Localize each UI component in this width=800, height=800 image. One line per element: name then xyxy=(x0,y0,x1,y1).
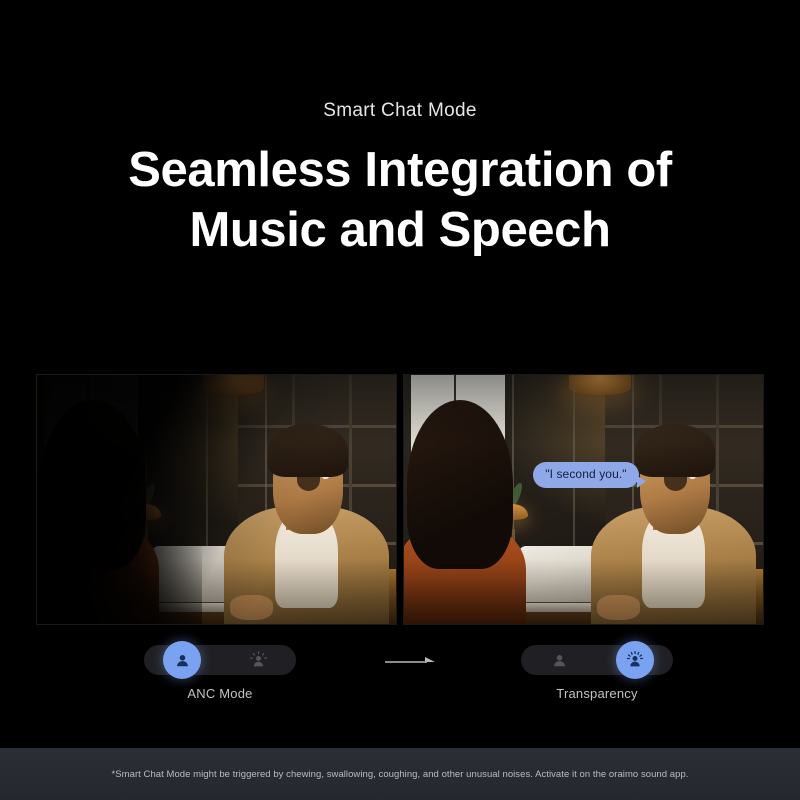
anc-mode-label: ANC Mode xyxy=(187,686,252,701)
transparency-person-icon xyxy=(625,650,645,670)
transparency-mode-toggle[interactable] xyxy=(521,645,673,675)
transition-arrow xyxy=(385,645,437,675)
footer-band: *Smart Chat Mode might be triggered by c… xyxy=(0,748,800,800)
toggle-slot-anc[interactable] xyxy=(144,645,220,675)
headline-line-1: Seamless Integration of xyxy=(0,141,800,201)
transparency-scene-image: "I second you." xyxy=(404,375,763,624)
page-title: Seamless Integration of Music and Speech xyxy=(0,141,800,261)
anc-scene-image xyxy=(37,375,396,624)
toggle-slot-transparency[interactable] xyxy=(597,645,673,675)
toggle-slot-transparency[interactable] xyxy=(220,645,296,675)
anc-panel xyxy=(36,374,397,625)
headline-line-2: Music and Speech xyxy=(0,201,800,261)
anc-person-icon xyxy=(550,651,569,670)
toggle-slot-anc[interactable] xyxy=(521,645,597,675)
transparency-panel: "I second you." xyxy=(403,374,764,625)
anc-person-icon xyxy=(173,651,192,670)
arrow-right-icon xyxy=(385,654,437,666)
comparison-panels: "I second you." xyxy=(36,374,764,625)
toggle-knob-active[interactable] xyxy=(616,641,654,679)
header: Smart Chat Mode Seamless Integration of … xyxy=(0,0,800,260)
anc-control-group: ANC Mode xyxy=(120,645,320,701)
anc-mode-toggle[interactable] xyxy=(144,645,296,675)
panel-vignette xyxy=(37,375,396,624)
transparency-mode-label: Transparency xyxy=(556,686,637,701)
transparency-control-group: Transparency xyxy=(497,645,697,701)
footnote-text: *Smart Chat Mode might be triggered by c… xyxy=(112,769,689,780)
mode-controls: ANC Mode xyxy=(0,645,800,715)
speech-bubble: "I second you." xyxy=(533,462,638,488)
panel-vignette xyxy=(404,375,763,624)
eyebrow-label: Smart Chat Mode xyxy=(0,100,800,123)
transparency-person-icon xyxy=(249,651,268,670)
toggle-knob-active[interactable] xyxy=(163,641,201,679)
promo-page: Smart Chat Mode Seamless Integration of … xyxy=(0,0,800,800)
